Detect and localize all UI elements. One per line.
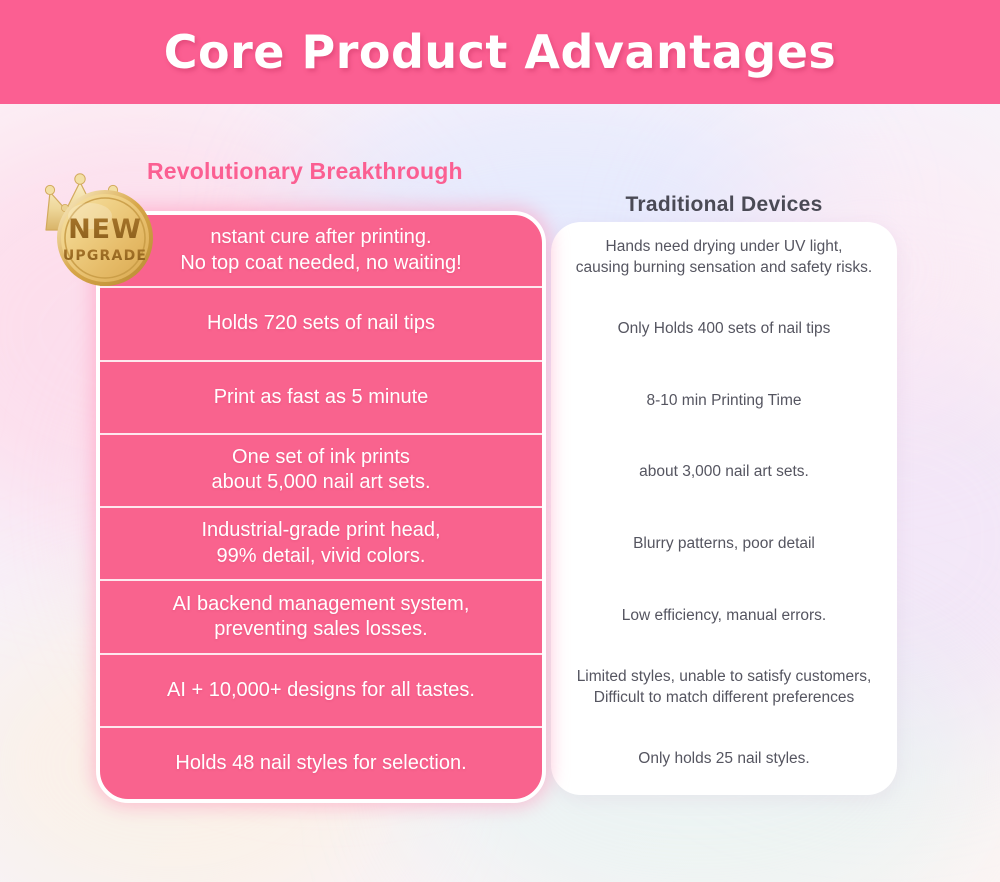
table-row: AI backend management system, preventing… bbox=[100, 581, 542, 654]
traditional-devices-panel: Hands need drying under UV light, causin… bbox=[551, 222, 897, 795]
traditional-text: Hands need drying under UV light, causin… bbox=[576, 237, 872, 278]
advantage-text: AI + 10,000+ designs for all tastes. bbox=[167, 678, 475, 703]
traditional-text: Low efficiency, manual errors. bbox=[622, 606, 826, 626]
new-upgrade-badge: NEW UPGRADE bbox=[24, 152, 184, 292]
advantage-text: Industrial-grade print head, 99% detail,… bbox=[201, 518, 440, 568]
table-row: Holds 720 sets of nail tips bbox=[100, 288, 542, 361]
table-row: Blurry patterns, poor detail bbox=[551, 509, 897, 581]
table-row: One set of ink prints about 5,000 nail a… bbox=[100, 435, 542, 508]
badge-line2: UPGRADE bbox=[63, 248, 147, 264]
traditional-text: Blurry patterns, poor detail bbox=[633, 534, 815, 554]
table-row: Print as fast as 5 minute bbox=[100, 362, 542, 435]
advantage-text: Holds 48 nail styles for selection. bbox=[175, 751, 466, 776]
advantage-text: Holds 720 sets of nail tips bbox=[207, 311, 435, 336]
table-row: Limited styles, unable to satisfy custom… bbox=[551, 652, 897, 724]
badge-line1: NEW bbox=[68, 214, 142, 245]
traditional-text: 8-10 min Printing Time bbox=[646, 391, 801, 411]
traditional-text: Only Holds 400 sets of nail tips bbox=[618, 319, 831, 339]
header-banner: Core Product Advantages bbox=[0, 0, 1000, 104]
traditional-text: Only holds 25 nail styles. bbox=[638, 749, 809, 769]
table-row: AI + 10,000+ designs for all tastes. bbox=[100, 655, 542, 728]
advantage-text: One set of ink prints about 5,000 nail a… bbox=[211, 445, 430, 495]
table-row: Industrial-grade print head, 99% detail,… bbox=[100, 508, 542, 581]
right-column-heading: Traditional Devices bbox=[550, 193, 898, 217]
table-row: 8-10 min Printing Time bbox=[551, 365, 897, 437]
table-row: Only Holds 400 sets of nail tips bbox=[551, 294, 897, 366]
table-row: about 3,000 nail art sets. bbox=[551, 437, 897, 509]
comparison-infographic: Core Product Advantages Revolutionary Br… bbox=[0, 0, 1000, 882]
table-row: Only holds 25 nail styles. bbox=[551, 723, 897, 795]
table-row: Low efficiency, manual errors. bbox=[551, 580, 897, 652]
traditional-text: Limited styles, unable to satisfy custom… bbox=[577, 667, 872, 708]
advantage-text: nstant cure after printing. No top coat … bbox=[180, 225, 461, 275]
advantage-text: Print as fast as 5 minute bbox=[214, 385, 429, 410]
traditional-text: about 3,000 nail art sets. bbox=[639, 462, 809, 482]
table-row: Holds 48 nail styles for selection. bbox=[100, 728, 542, 799]
page-title: Core Product Advantages bbox=[164, 25, 837, 79]
advantage-text: AI backend management system, preventing… bbox=[173, 592, 470, 642]
left-column-heading: Revolutionary Breakthrough bbox=[147, 158, 463, 185]
advantages-card: nstant cure after printing. No top coat … bbox=[96, 211, 546, 803]
table-row: Hands need drying under UV light, causin… bbox=[551, 222, 897, 294]
